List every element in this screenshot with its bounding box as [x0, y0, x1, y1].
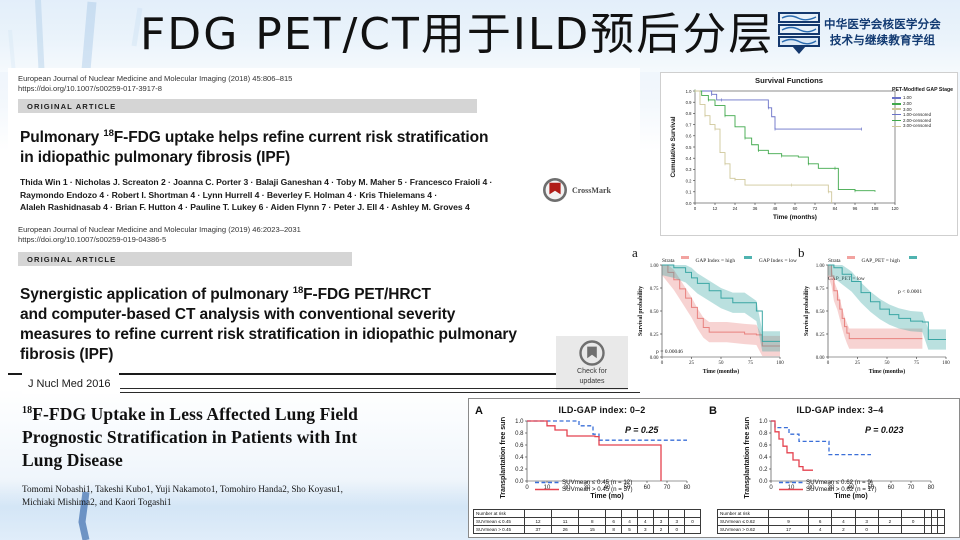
cell: 3 — [855, 518, 878, 526]
cell: 6 — [809, 518, 832, 526]
svg-text:Transplantation free survival: Transplantation free survival — [500, 417, 507, 499]
svg-text:0.2: 0.2 — [515, 467, 524, 473]
svg-text:Cumulative Survival: Cumulative Survival — [670, 116, 677, 177]
svg-text:100: 100 — [942, 361, 950, 366]
paper1-doi: https://doi.org/10.1007/s00259-017-3917-… — [18, 84, 488, 94]
cell: 17 — [769, 526, 809, 534]
cell: 37 — [525, 526, 552, 534]
svg-text:36: 36 — [753, 206, 758, 211]
svg-text:75: 75 — [914, 361, 920, 366]
svg-text:0.4: 0.4 — [759, 455, 768, 461]
ild-panel-b-letter: B — [709, 405, 717, 417]
ild-b-risk-row2-label: SUVmean > 0.62 — [718, 526, 769, 534]
legend-swatch-icon — [892, 120, 901, 121]
svg-text:0.50: 0.50 — [650, 310, 659, 315]
table-row: Number at risk — [474, 510, 701, 518]
svg-text:0.4: 0.4 — [515, 455, 524, 461]
svg-text:0.25: 0.25 — [650, 333, 659, 338]
society-name-line1: 中华医学会核医学分会 — [824, 16, 941, 32]
svg-text:0.00: 0.00 — [650, 356, 659, 361]
ild-b-legend-dash-icon — [779, 480, 803, 485]
svg-text:80: 80 — [928, 485, 935, 491]
svg-text:48: 48 — [773, 206, 778, 211]
paper3-title-line1: F-FDG Uptake in Less Affected Lung Field — [32, 404, 358, 424]
svg-text:0.2: 0.2 — [686, 178, 692, 183]
paper3-authors: Tomomi Nobashi1, Takeshi Kubo1, Yuji Nak… — [22, 483, 492, 509]
figure-km-panels: a Strata GAP Index = high GAP Index = lo… — [628, 243, 958, 389]
ild-a-legend-solid-icon — [535, 487, 559, 492]
check-for-updates-line1: Check for — [577, 368, 607, 376]
cell: 11 — [552, 518, 579, 526]
svg-text:70: 70 — [664, 485, 671, 491]
cell: 4 — [809, 526, 832, 534]
paper1-title-superscript: 18 — [103, 128, 113, 139]
km-b-pvalue: p < 0.0001 — [898, 289, 922, 295]
legend-swatch-icon — [892, 108, 901, 110]
ild-b-pvalue: P = 0.023 — [865, 425, 903, 435]
paper3-authors-line1: Tomomi Nobashi1, Takeshi Kubo1, Yuji Nak… — [22, 483, 492, 496]
legend-swatch-icon — [892, 103, 901, 105]
svg-text:Time (mo): Time (mo) — [590, 493, 623, 500]
cell: 26 — [552, 526, 579, 534]
paper2-section-bar: ORIGINAL ARTICLE — [18, 252, 352, 266]
slide-canvas: FDG PET/CT用于ILD预后分层 中华医学会核医学分会 技术与继续教育学组… — [0, 0, 960, 540]
ild-panel-a-letter: A — [475, 405, 483, 417]
svg-text:0.00: 0.00 — [816, 356, 825, 361]
cell: 3 — [637, 526, 653, 534]
ild-b-legend-high: SUVmean > 0.62 (n = 17) — [806, 486, 877, 493]
cell: 3 — [669, 518, 685, 526]
check-for-updates-line2: updates — [580, 378, 605, 386]
svg-text:0.9: 0.9 — [686, 100, 692, 105]
cell — [938, 518, 945, 526]
svg-text:60: 60 — [793, 206, 798, 211]
svg-text:0.2: 0.2 — [759, 467, 768, 473]
svg-text:24: 24 — [733, 206, 738, 211]
survival-chart-title: Survival Functions — [621, 76, 957, 85]
paper1-authors-line1: Thida Win 1 · Nicholas J. Screaton 2 · J… — [20, 176, 630, 189]
survival-chart-legend: PET-Modified GAP Stage 1.002.003.001.00-… — [892, 87, 954, 129]
svg-text:0.0: 0.0 — [515, 479, 524, 485]
paper1-title-post: F-FDG uptake helps refine current risk s… — [114, 129, 489, 146]
svg-text:1.0: 1.0 — [686, 89, 692, 94]
journal-sheet-top: European Journal of Nuclear Medicine and… — [8, 68, 640, 375]
cell — [938, 526, 945, 534]
cell: 2 — [653, 526, 669, 534]
svg-text:80: 80 — [684, 485, 691, 491]
svg-text:0.6: 0.6 — [515, 443, 524, 449]
ild-a-risk-row1-label: SUVmean ≤ 0.45 — [474, 518, 525, 526]
svg-text:0.4: 0.4 — [686, 156, 692, 161]
svg-text:0: 0 — [661, 361, 664, 366]
cell: 8 — [579, 518, 606, 526]
paper1-title-pre: Pulmonary — [20, 129, 103, 146]
svg-text:1.00: 1.00 — [650, 264, 659, 269]
paper1-section-label: ORIGINAL ARTICLE — [27, 102, 116, 111]
svg-text:25: 25 — [855, 361, 861, 366]
svg-text:Time (mo): Time (mo) — [834, 493, 867, 500]
svg-text:0.50: 0.50 — [816, 310, 825, 315]
ild-b-legend-solid-icon — [779, 487, 803, 492]
society-logo: 中华医学会核医学分会 技术与继续教育学组 — [778, 6, 956, 58]
svg-text:70: 70 — [908, 485, 915, 491]
svg-text:108: 108 — [872, 206, 880, 211]
legend-swatch-icon — [892, 97, 901, 99]
svg-text:0: 0 — [694, 206, 697, 211]
paper1-section-bar: ORIGINAL ARTICLE — [18, 99, 477, 113]
svg-text:0.75: 0.75 — [816, 287, 825, 292]
cell: 12 — [525, 518, 552, 526]
society-name-line2: 技术与继续教育学组 — [824, 32, 941, 48]
cell — [902, 526, 925, 534]
ild-panel-a-plot: 010203040506070800.00.20.40.60.81.0Time … — [471, 417, 707, 517]
svg-text:0.8: 0.8 — [686, 111, 692, 116]
svg-text:50: 50 — [885, 361, 891, 366]
svg-text:50: 50 — [719, 361, 725, 366]
cell: 8 — [606, 526, 622, 534]
cell: 0 — [685, 518, 701, 526]
svg-text:1.00: 1.00 — [816, 264, 825, 269]
cell: 4 — [637, 518, 653, 526]
km-panel-a-plot: 02550751000.000.250.500.751.00Time (mont… — [628, 259, 792, 387]
km-a-pvalue: p = 0.00046 — [656, 349, 683, 355]
svg-text:Transplantation free survival: Transplantation free survival — [744, 417, 751, 499]
svg-text:120: 120 — [892, 206, 900, 211]
svg-text:60: 60 — [888, 485, 895, 491]
paper1-journal-line: European Journal of Nuclear Medicine and… — [18, 74, 488, 84]
svg-text:0: 0 — [769, 485, 773, 491]
paper3-title-superscript: 18 — [22, 405, 32, 416]
legend-label: 3.00-censored — [903, 123, 931, 129]
svg-text:0.1: 0.1 — [686, 190, 692, 195]
ild-b-legend: SUVmean ≤ 0.62 (n = 9) SUVmean > 0.62 (n… — [779, 479, 877, 493]
ild-panel-a-title: ILD-GAP index: 0–2 — [527, 405, 677, 415]
survival-legend-item: 3.00-censored — [892, 123, 954, 129]
svg-text:Time (months): Time (months) — [869, 368, 906, 375]
ild-a-legend-high: SUVmean > 0.45 (n = 37) — [562, 486, 633, 493]
ild-b-risk-header: Number at risk — [718, 510, 769, 518]
title-bar: FDG PET/CT用于ILD预后分层 中华医学会核医学分会 技术与继续教育学组 — [0, 0, 960, 70]
paper2-journal-line: European Journal of Nuclear Medicine and… — [18, 225, 488, 235]
svg-text:Time (months): Time (months) — [773, 214, 817, 221]
paper1-title: Pulmonary 18F-FDG uptake helps refine cu… — [20, 124, 550, 168]
cell: 9 — [769, 518, 809, 526]
survival-legend-title: PET-Modified GAP Stage — [892, 87, 954, 93]
cell: 4 — [622, 518, 638, 526]
svg-text:100: 100 — [776, 361, 784, 366]
svg-text:0.0: 0.0 — [759, 479, 768, 485]
svg-text:72: 72 — [813, 206, 818, 211]
cell: 0 — [669, 526, 685, 534]
svg-text:12: 12 — [713, 206, 718, 211]
svg-text:96: 96 — [853, 206, 858, 211]
ild-a-risk-table: Number at risk SUVmean ≤ 0.45 12 11 8 6 … — [473, 509, 701, 534]
legend-swatch-icon — [892, 126, 901, 127]
svg-text:0.6: 0.6 — [686, 134, 692, 139]
ild-b-risk-row1-label: SUVmean ≤ 0.62 — [718, 518, 769, 526]
svg-text:0.8: 0.8 — [759, 431, 768, 437]
table-row: SUVmean > 0.62 17 4 2 0 — [718, 526, 945, 534]
svg-text:75: 75 — [748, 361, 754, 366]
svg-text:Time (months): Time (months) — [703, 368, 740, 375]
svg-text:1.0: 1.0 — [515, 419, 524, 425]
svg-text:0.75: 0.75 — [650, 287, 659, 292]
svg-text:0.8: 0.8 — [515, 431, 524, 437]
paper2-title-pre: Synergistic application of pulmonary — [20, 286, 293, 303]
paper1-authors-line3: Alaleh Rashidnasab 4 · Brian F. Hutton 4… — [20, 201, 630, 214]
ild-a-legend: SUVmean ≤ 0.45 (n = 12) SUVmean > 0.45 (… — [535, 479, 633, 493]
svg-text:0.6: 0.6 — [759, 443, 768, 449]
cell — [685, 526, 701, 534]
table-row: Number at risk — [718, 510, 945, 518]
page-title: FDG PET/CT用于ILD预后分层 — [140, 6, 780, 64]
svg-text:84: 84 — [833, 206, 838, 211]
svg-text:1.0: 1.0 — [759, 419, 768, 425]
cell: 5 — [622, 526, 638, 534]
ild-a-risk-header: Number at risk — [474, 510, 525, 518]
svg-text:25: 25 — [689, 361, 695, 366]
paper2-title-superscript: 18 — [293, 285, 303, 296]
paper1-header: European Journal of Nuclear Medicine and… — [18, 74, 488, 94]
ild-a-legend-dash-icon — [535, 480, 559, 485]
svg-text:Survival probability: Survival probability — [638, 286, 644, 336]
paper2-title-line4: fibrosis (IPF) — [20, 345, 548, 365]
ild-a-legend-low: SUVmean ≤ 0.45 (n = 12) — [562, 479, 632, 486]
ild-b-legend-low: SUVmean ≤ 0.62 (n = 9) — [806, 479, 873, 486]
paper1-title-line2: in idiopathic pulmonary fibrosis (IPF) — [20, 148, 550, 168]
legend-swatch-icon — [892, 114, 901, 115]
svg-text:0.5: 0.5 — [686, 145, 692, 150]
ild-a-pvalue: P = 0.25 — [625, 425, 658, 435]
cell: 6 — [606, 518, 622, 526]
cell: 3 — [653, 518, 669, 526]
ild-panel-b-plot: 010203040506070800.00.20.40.60.81.0Time … — [715, 417, 951, 517]
svg-text:0.3: 0.3 — [686, 167, 692, 172]
svg-text:0.7: 0.7 — [686, 122, 692, 127]
svg-text:0.25: 0.25 — [816, 333, 825, 338]
svg-text:0.0: 0.0 — [686, 201, 692, 206]
paper2-doi: https://doi.org/10.1007/s00259-019-04386… — [18, 235, 488, 245]
paper1-authors: Thida Win 1 · Nicholas J. Screaton 2 · J… — [20, 176, 630, 214]
cell — [878, 526, 901, 534]
table-row: SUVmean ≤ 0.62 9 6 4 3 2 0 — [718, 518, 945, 526]
paper1-authors-line2: Raymondo Endozo 4 · Robert I. Shortman 4… — [20, 189, 630, 202]
cell: 0 — [902, 518, 925, 526]
figure-survival-functions: Survival Functions 012243648607284961081… — [660, 72, 958, 236]
paper2-section-label: ORIGINAL ARTICLE — [27, 255, 116, 264]
paper2-title-post: F-FDG PET/HRCT — [303, 286, 431, 303]
check-for-updates-icon — [579, 340, 605, 366]
cell: 15 — [579, 526, 606, 534]
svg-text:0: 0 — [827, 361, 830, 366]
paper2-title: Synergistic application of pulmonary 18F… — [20, 281, 548, 365]
svg-text:Survival probability: Survival probability — [804, 286, 810, 336]
cell: 2 — [832, 526, 855, 534]
paper3-authors-line2: Michiaki Mishima2, and Kaori Togashi1 — [22, 496, 492, 509]
society-logo-text: 中华医学会核医学分会 技术与继续教育学组 — [824, 16, 941, 48]
paper2-title-line3: measures to refine current risk stratifi… — [20, 325, 548, 345]
table-row: SUVmean ≤ 0.45 12 11 8 6 4 4 3 3 0 — [474, 518, 701, 526]
ild-panel-b-title: ILD-GAP index: 3–4 — [765, 405, 915, 415]
society-emblem-icon — [778, 10, 820, 54]
cell: 2 — [878, 518, 901, 526]
svg-text:60: 60 — [644, 485, 651, 491]
paper2-header: European Journal of Nuclear Medicine and… — [18, 225, 488, 245]
figure-ild-gap: A ILD-GAP index: 0–2 010203040506070800.… — [468, 398, 960, 538]
ild-a-risk-row2-label: SUVmean > 0.45 — [474, 526, 525, 534]
km-panel-b-plot: 02550751000.000.250.500.751.00Time (mont… — [794, 259, 958, 387]
table-row: SUVmean > 0.45 37 26 15 8 5 3 2 0 — [474, 526, 701, 534]
ild-b-risk-table: Number at risk SUVmean ≤ 0.62 9 6 4 3 2 … — [717, 509, 945, 534]
paper2-title-line2: and computer-based CT analysis with conv… — [20, 305, 548, 325]
cell: 4 — [832, 518, 855, 526]
svg-text:0: 0 — [525, 485, 529, 491]
cell: 0 — [855, 526, 878, 534]
